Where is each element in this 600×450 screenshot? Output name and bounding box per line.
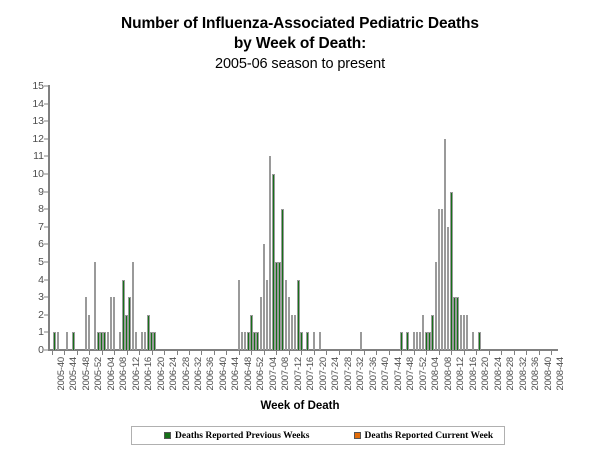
y-tick-mark	[44, 191, 49, 192]
bar	[107, 332, 109, 350]
bar	[435, 262, 437, 350]
x-tick-mark	[339, 350, 340, 355]
x-tick-label: 2007-12	[293, 357, 304, 390]
x-tick-mark	[526, 350, 527, 355]
y-tick-mark	[44, 103, 49, 104]
bar	[441, 209, 443, 350]
bar	[306, 332, 308, 350]
x-tick-mark	[114, 350, 115, 355]
bar	[260, 297, 262, 350]
bar	[288, 297, 290, 350]
bar	[256, 332, 258, 350]
bar	[463, 315, 465, 350]
bar	[250, 315, 252, 350]
bar	[450, 192, 452, 350]
bar	[428, 332, 430, 350]
bar	[281, 209, 283, 350]
x-tick-label: 2006-36	[205, 357, 216, 390]
y-tick-label: 9	[4, 186, 44, 198]
x-tick-mark	[127, 350, 128, 355]
bar	[72, 332, 74, 350]
legend-swatch-previous-weeks	[164, 432, 171, 439]
y-tick-mark	[44, 226, 49, 227]
bar	[153, 332, 155, 350]
x-tick-mark	[551, 350, 552, 355]
bar	[244, 332, 246, 350]
y-tick-label: 0	[4, 344, 44, 356]
x-tick-mark	[489, 350, 490, 355]
bar	[269, 156, 271, 350]
x-tick-label: 2006-28	[181, 357, 192, 390]
y-tick-mark	[44, 262, 49, 263]
x-tick-label: 2007-40	[380, 357, 391, 390]
x-tick-mark	[376, 350, 377, 355]
bar	[294, 315, 296, 350]
y-tick-label: 5	[4, 256, 44, 268]
x-tick-label: 2006-24	[168, 357, 179, 390]
bar	[360, 332, 362, 350]
x-tick-label: 2006-48	[243, 357, 254, 390]
x-tick-mark	[164, 350, 165, 355]
chart-legend: Deaths Reported Previous Weeks Deaths Re…	[131, 426, 505, 445]
x-tick-mark	[189, 350, 190, 355]
bar	[110, 297, 112, 350]
x-tick-label: 2006-20	[156, 357, 167, 390]
title-line-1: Number of Influenza-Associated Pediatric…	[0, 14, 600, 34]
bar	[144, 332, 146, 350]
bar	[478, 332, 480, 350]
y-tick-mark	[44, 244, 49, 245]
bar	[128, 297, 130, 350]
x-tick-label: 2007-52	[418, 357, 429, 390]
bar	[85, 297, 87, 350]
x-tick-label: 2008-44	[555, 357, 566, 390]
bar	[456, 297, 458, 350]
y-tick-label: 1	[4, 326, 44, 338]
x-tick-label: 2005-40	[56, 357, 67, 390]
bar	[275, 262, 277, 350]
y-tick-label: 12	[4, 133, 44, 145]
y-tick-label: 14	[4, 98, 44, 110]
x-tick-mark	[52, 350, 53, 355]
bar	[438, 209, 440, 350]
x-tick-label: 2006-04	[106, 357, 117, 390]
chart-title: Number of Influenza-Associated Pediatric…	[0, 14, 600, 74]
bar	[278, 262, 280, 350]
y-tick-label: 13	[4, 115, 44, 127]
title-line-3: 2005-06 season to present	[0, 54, 600, 74]
bar	[66, 332, 68, 350]
bar	[113, 297, 115, 350]
bar	[313, 332, 315, 350]
x-tick-mark	[139, 350, 140, 355]
x-tick-mark	[214, 350, 215, 355]
x-tick-label: 2006-52	[255, 357, 266, 390]
bar	[422, 315, 424, 350]
x-tick-mark	[152, 350, 153, 355]
x-tick-label: 2006-08	[118, 357, 129, 390]
x-tick-mark	[64, 350, 65, 355]
x-tick-label: 2007-32	[355, 357, 366, 390]
y-tick-label: 7	[4, 221, 44, 233]
bar	[103, 332, 105, 350]
bar	[125, 315, 127, 350]
x-tick-mark	[364, 350, 365, 355]
x-tick-label: 2008-08	[443, 357, 454, 390]
x-tick-mark	[201, 350, 202, 355]
bar	[132, 262, 134, 350]
bar	[285, 280, 287, 350]
bar	[300, 332, 302, 350]
bar	[431, 315, 433, 350]
x-tick-mark	[476, 350, 477, 355]
x-tick-mark	[301, 350, 302, 355]
bar	[122, 280, 124, 350]
bar	[241, 332, 243, 350]
x-tick-mark	[514, 350, 515, 355]
x-tick-mark	[251, 350, 252, 355]
x-tick-label: 2008-32	[518, 357, 529, 390]
y-tick-mark	[44, 350, 49, 351]
y-tick-label: 3	[4, 291, 44, 303]
x-tick-mark	[239, 350, 240, 355]
bar	[416, 332, 418, 350]
bar	[272, 174, 274, 350]
x-tick-label: 2006-16	[143, 357, 154, 390]
y-tick-mark	[44, 209, 49, 210]
bar	[94, 262, 96, 350]
y-tick-mark	[44, 314, 49, 315]
bar	[263, 244, 265, 350]
bar	[400, 332, 402, 350]
y-tick-label: 8	[4, 203, 44, 215]
x-axis-ticks: 2005-402005-442005-482005-522006-042006-…	[50, 350, 556, 410]
x-tick-mark	[414, 350, 415, 355]
x-tick-label: 2008-16	[468, 357, 479, 390]
x-tick-label: 2007-48	[405, 357, 416, 390]
x-tick-mark	[426, 350, 427, 355]
x-tick-mark	[226, 350, 227, 355]
x-tick-mark	[77, 350, 78, 355]
x-tick-label: 2006-12	[131, 357, 142, 390]
y-tick-mark	[44, 86, 49, 87]
y-tick-label: 15	[4, 80, 44, 92]
x-tick-mark	[539, 350, 540, 355]
bar	[150, 332, 152, 350]
y-tick-mark	[44, 297, 49, 298]
x-tick-mark	[501, 350, 502, 355]
x-tick-mark	[314, 350, 315, 355]
x-tick-mark	[351, 350, 352, 355]
x-tick-mark	[439, 350, 440, 355]
bar	[253, 332, 255, 350]
x-tick-mark	[401, 350, 402, 355]
x-tick-label: 2008-12	[455, 357, 466, 390]
x-tick-mark	[326, 350, 327, 355]
bar	[406, 332, 408, 350]
legend-swatch-current-week	[354, 432, 361, 439]
bar	[291, 315, 293, 350]
x-tick-label: 2007-44	[393, 357, 404, 390]
legend-label-previous-weeks: Deaths Reported Previous Weeks	[175, 431, 310, 441]
x-tick-label: 2006-44	[230, 357, 241, 390]
x-tick-label: 2007-16	[305, 357, 316, 390]
bar	[247, 332, 249, 350]
x-tick-label: 2006-32	[193, 357, 204, 390]
y-tick-mark	[44, 156, 49, 157]
bar	[100, 332, 102, 350]
x-tick-mark	[264, 350, 265, 355]
x-tick-mark	[102, 350, 103, 355]
bars-layer	[50, 86, 556, 350]
title-line-2: by Week of Death:	[0, 34, 600, 54]
x-tick-mark	[276, 350, 277, 355]
influenza-pediatric-deaths-chart: Number of Influenza-Associated Pediatric…	[0, 0, 600, 450]
x-tick-mark	[289, 350, 290, 355]
bar	[97, 332, 99, 350]
y-tick-label: 6	[4, 238, 44, 250]
y-tick-mark	[44, 174, 49, 175]
x-tick-label: 2008-36	[530, 357, 541, 390]
bar	[425, 332, 427, 350]
legend-item-previous-weeks: Deaths Reported Previous Weeks	[164, 431, 310, 441]
bar	[297, 280, 299, 350]
x-tick-label: 2008-20	[480, 357, 491, 390]
legend-label-current-week: Deaths Reported Current Week	[365, 431, 494, 441]
x-tick-label: 2008-24	[493, 357, 504, 390]
y-tick-label: 10	[4, 168, 44, 180]
x-tick-label: 2008-04	[430, 357, 441, 390]
x-tick-mark	[451, 350, 452, 355]
x-tick-label: 2007-24	[330, 357, 341, 390]
legend-item-current-week: Deaths Reported Current Week	[354, 431, 494, 441]
bar	[319, 332, 321, 350]
bar	[419, 332, 421, 350]
x-tick-label: 2007-36	[368, 357, 379, 390]
y-tick-label: 4	[4, 274, 44, 286]
bar	[238, 280, 240, 350]
bar	[88, 315, 90, 350]
bar	[135, 332, 137, 350]
x-tick-label: 2007-20	[318, 357, 329, 390]
bar	[466, 315, 468, 350]
x-tick-label: 2008-40	[543, 357, 554, 390]
x-tick-label: 2005-52	[93, 357, 104, 390]
x-tick-label: 2008-28	[505, 357, 516, 390]
bar	[141, 332, 143, 350]
x-tick-label: 2005-44	[68, 357, 79, 390]
bar	[266, 280, 268, 350]
bar	[119, 332, 121, 350]
y-tick-label: 11	[4, 150, 44, 162]
x-tick-label: 2007-08	[280, 357, 291, 390]
y-tick-mark	[44, 138, 49, 139]
x-tick-mark	[464, 350, 465, 355]
y-tick-mark	[44, 279, 49, 280]
x-tick-label: 2007-28	[343, 357, 354, 390]
bar	[147, 315, 149, 350]
x-tick-label: 2007-04	[268, 357, 279, 390]
bar	[53, 332, 55, 350]
x-tick-mark	[177, 350, 178, 355]
bar	[57, 332, 59, 350]
bar	[453, 297, 455, 350]
x-tick-mark	[389, 350, 390, 355]
x-tick-label: 2006-40	[218, 357, 229, 390]
y-tick-mark	[44, 332, 49, 333]
bar	[460, 315, 462, 350]
y-tick-mark	[44, 121, 49, 122]
bar	[413, 332, 415, 350]
x-tick-label: 2005-48	[81, 357, 92, 390]
bar	[444, 139, 446, 350]
bar	[472, 332, 474, 350]
y-tick-label: 2	[4, 309, 44, 321]
x-tick-mark	[89, 350, 90, 355]
bar	[447, 227, 449, 350]
